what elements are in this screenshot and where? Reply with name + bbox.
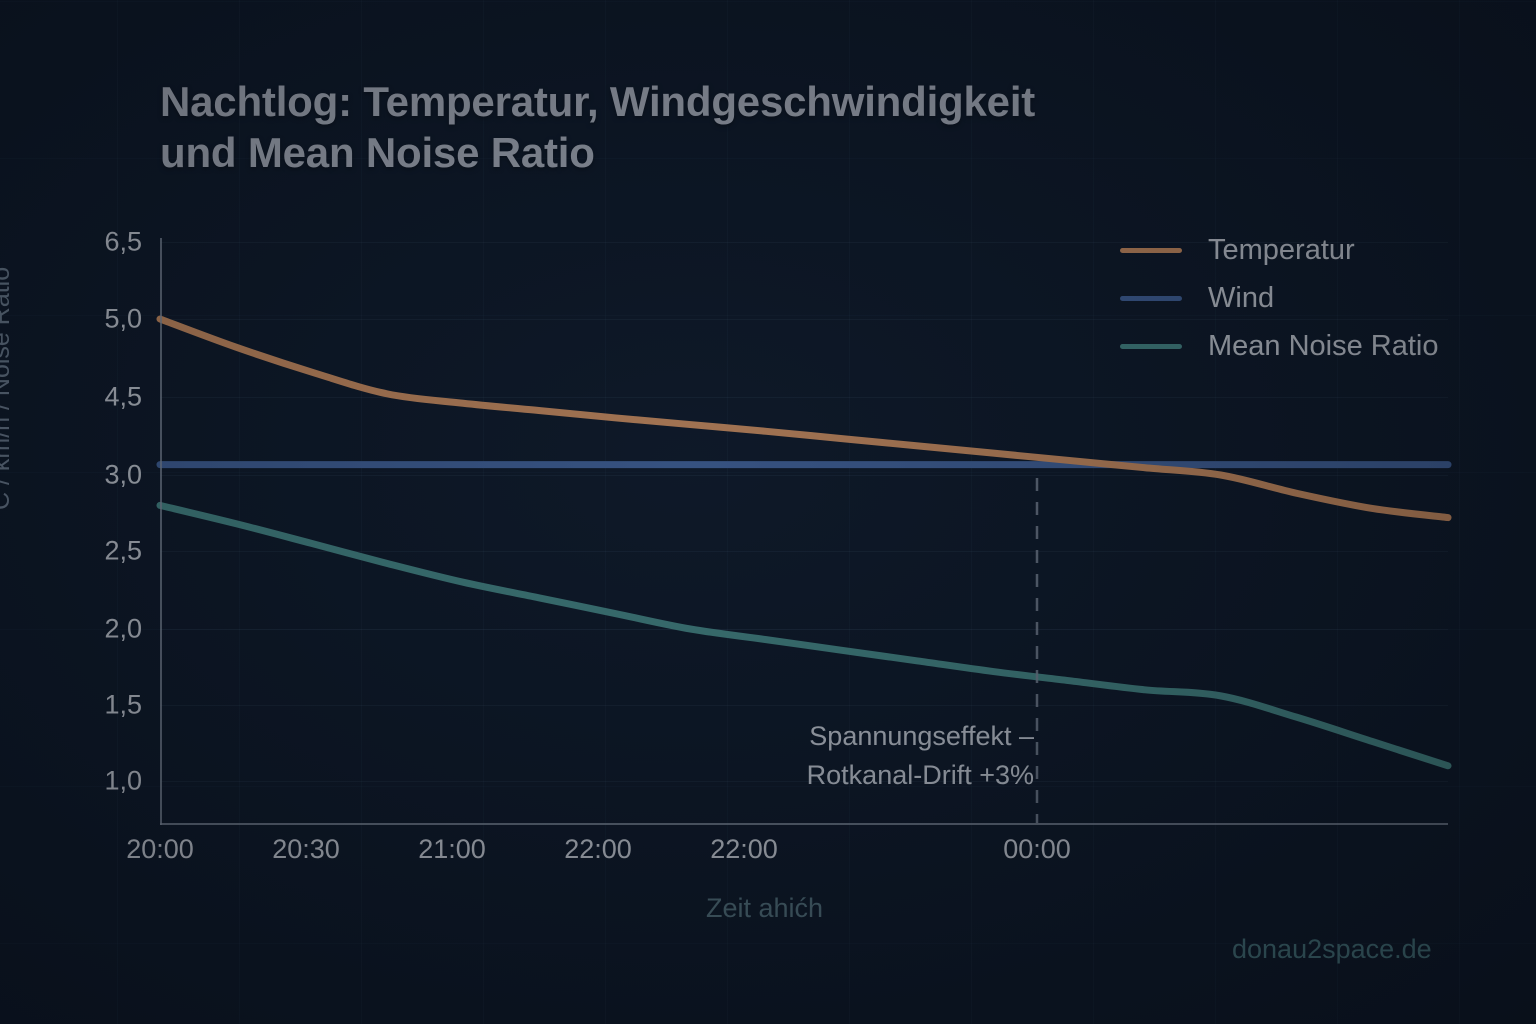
x-tick-label: 22:00 — [710, 834, 778, 865]
annotation-line1: Spannungseffekt – — [742, 717, 1034, 756]
y-tick-label: 2,5 — [0, 536, 142, 567]
legend-label: Temperatur — [1208, 234, 1355, 267]
x-tick-label: 20:00 — [126, 834, 194, 865]
legend-color-swatch-icon — [1120, 344, 1182, 349]
x-axis-label: Zeit ahićh — [706, 893, 823, 924]
legend-label: Wind — [1208, 282, 1274, 315]
legend-color-swatch-icon — [1120, 296, 1182, 301]
x-tick-label: 21:00 — [418, 834, 486, 865]
y-tick-label: 1,5 — [0, 690, 142, 721]
x-tick-label: 00:00 — [1003, 834, 1071, 865]
legend-item-temperatur[interactable]: Temperatur — [1120, 226, 1520, 274]
y-tick-label: 4,5 — [0, 382, 142, 413]
y-tick-label: 2,0 — [0, 614, 142, 645]
x-tick-label: 20:30 — [272, 834, 340, 865]
legend-label: Mean Noise Ratio — [1208, 330, 1439, 363]
legend-color-swatch-icon — [1120, 248, 1182, 253]
chart-title-line2: und Mean Noise Ratio — [160, 127, 1280, 178]
chart-legend: Temperatur Wind Mean Noise Ratio — [1120, 226, 1520, 370]
x-axis-line — [160, 823, 1448, 825]
legend-item-mean-noise-ratio[interactable]: Mean Noise Ratio — [1120, 322, 1520, 370]
y-tick-label: 1,0 — [0, 766, 142, 797]
x-tick-label: 22:00 — [564, 834, 632, 865]
y-tick-label: 3,0 — [0, 460, 142, 491]
chart-title-line1: Nachtlog: Temperatur, Windgeschwindigkei… — [160, 78, 1035, 125]
chart-screenshot: Nachtlog: Temperatur, Windgeschwindigkei… — [0, 0, 1536, 1024]
chart-annotation: Spannungseffekt – Rotkanal-Drift +3% — [742, 717, 1034, 795]
y-tick-label: 5,0 — [0, 304, 142, 335]
y-tick-label: 6,5 — [0, 227, 142, 258]
annotation-line2: Rotkanal-Drift +3% — [742, 756, 1034, 795]
legend-item-wind[interactable]: Wind — [1120, 274, 1520, 322]
watermark: donau2space.de — [1232, 934, 1432, 965]
y-axis-line — [160, 238, 162, 825]
chart-title: Nachtlog: Temperatur, Windgeschwindigkei… — [160, 76, 1280, 178]
